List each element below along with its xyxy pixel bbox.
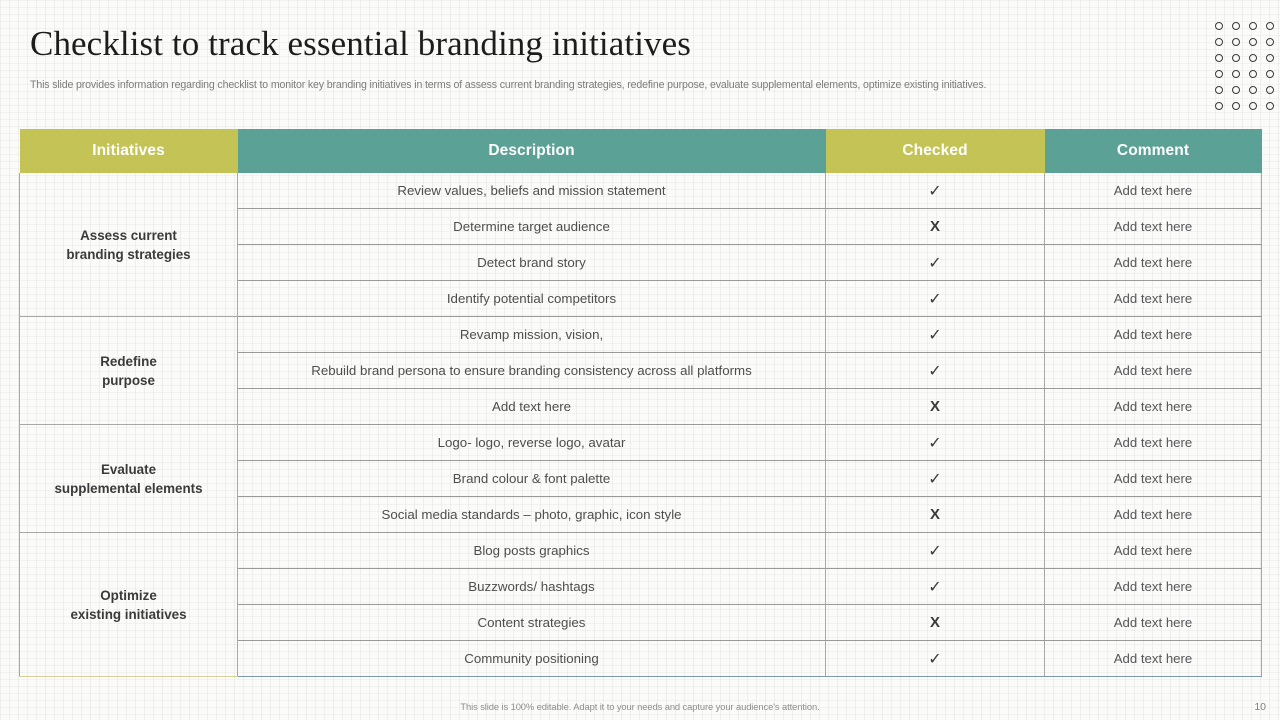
- decor-dot: [1266, 22, 1274, 30]
- column-header-initiatives: Initiatives: [20, 129, 238, 173]
- checkmark-icon[interactable]: ✓: [826, 641, 1045, 677]
- comment-cell[interactable]: Add text here: [1045, 245, 1262, 281]
- description-cell: Revamp mission, vision,: [238, 317, 826, 353]
- description-cell: Detect brand story: [238, 245, 826, 281]
- table-row: RedefinepurposeRevamp mission, vision,✓A…: [20, 317, 1262, 353]
- comment-cell[interactable]: Add text here: [1045, 173, 1262, 209]
- description-cell: Content strategies: [238, 605, 826, 641]
- decor-dot: [1249, 86, 1257, 94]
- column-header-description: Description: [238, 129, 826, 173]
- checkmark-icon[interactable]: ✓: [826, 461, 1045, 497]
- checkmark-icon[interactable]: ✓: [826, 425, 1045, 461]
- table-body: Assess currentbranding strategiesReview …: [20, 173, 1262, 677]
- table-row: Optimizeexisting initiativesBlog posts g…: [20, 533, 1262, 569]
- decor-dot: [1232, 70, 1240, 78]
- initiative-label-line2: existing initiatives: [20, 605, 237, 624]
- initiative-group-cell: Assess currentbranding strategies: [20, 173, 238, 317]
- checked-state-glyph: ✓: [928, 327, 941, 344]
- initiative-label-line1: Assess current: [20, 226, 237, 245]
- comment-cell[interactable]: Add text here: [1045, 533, 1262, 569]
- decor-dot: [1215, 38, 1223, 46]
- footer-note: This slide is 100% editable. Adapt it to…: [0, 701, 1280, 712]
- description-cell: Add text here: [238, 389, 826, 425]
- comment-cell[interactable]: Add text here: [1045, 317, 1262, 353]
- decor-dot: [1215, 86, 1223, 94]
- decor-dot: [1249, 22, 1257, 30]
- comment-cell[interactable]: Add text here: [1045, 281, 1262, 317]
- description-cell: Logo- logo, reverse logo, avatar: [238, 425, 826, 461]
- slide-canvas: Checklist to track essential branding in…: [0, 0, 1280, 720]
- comment-cell[interactable]: Add text here: [1045, 425, 1262, 461]
- decor-dot: [1232, 54, 1240, 62]
- initiative-group-cell: Optimizeexisting initiatives: [20, 533, 238, 677]
- decor-dot: [1266, 102, 1274, 110]
- checked-state-glyph: ✓: [928, 543, 941, 560]
- checked-state-glyph: ✓: [928, 579, 941, 596]
- decor-dot: [1232, 102, 1240, 110]
- checkmark-icon[interactable]: ✓: [826, 569, 1045, 605]
- description-cell: Community positioning: [238, 641, 826, 677]
- page-subtitle: This slide provides information regardin…: [30, 79, 986, 91]
- table-header-row: Initiatives Description Checked Comment: [20, 129, 1262, 173]
- cross-icon[interactable]: X: [826, 497, 1045, 533]
- description-cell: Buzzwords/ hashtags: [238, 569, 826, 605]
- description-cell: Review values, beliefs and mission state…: [238, 173, 826, 209]
- checked-state-glyph: ✓: [928, 651, 941, 668]
- page-title: Checklist to track essential branding in…: [30, 24, 691, 64]
- decor-dot: [1215, 54, 1223, 62]
- description-cell: Brand colour & font palette: [238, 461, 826, 497]
- comment-cell[interactable]: Add text here: [1045, 461, 1262, 497]
- decor-dot: [1249, 38, 1257, 46]
- comment-cell[interactable]: Add text here: [1045, 569, 1262, 605]
- decor-dot: [1215, 102, 1223, 110]
- checked-state-glyph: X: [930, 398, 940, 415]
- cross-icon[interactable]: X: [826, 605, 1045, 641]
- comment-cell[interactable]: Add text here: [1045, 389, 1262, 425]
- decor-dot: [1249, 70, 1257, 78]
- checkmark-icon[interactable]: ✓: [826, 245, 1045, 281]
- page-number: 10: [1254, 701, 1266, 713]
- table-row: Evaluatesupplemental elementsLogo- logo,…: [20, 425, 1262, 461]
- initiative-group-cell: Redefinepurpose: [20, 317, 238, 425]
- description-cell: Determine target audience: [238, 209, 826, 245]
- decor-dot: [1249, 54, 1257, 62]
- checkmark-icon[interactable]: ✓: [826, 317, 1045, 353]
- decor-dot: [1232, 38, 1240, 46]
- initiative-label-line2: purpose: [20, 371, 237, 390]
- checked-state-glyph: ✓: [928, 471, 941, 488]
- initiative-label-line2: branding strategies: [20, 245, 237, 264]
- initiative-label-line1: Redefine: [20, 352, 237, 371]
- checked-state-glyph: ✓: [928, 435, 941, 452]
- comment-cell[interactable]: Add text here: [1045, 497, 1262, 533]
- checkmark-icon[interactable]: ✓: [826, 353, 1045, 389]
- description-cell: Social media standards – photo, graphic,…: [238, 497, 826, 533]
- description-cell: Blog posts graphics: [238, 533, 826, 569]
- initiative-label-line1: Optimize: [20, 586, 237, 605]
- cross-icon[interactable]: X: [826, 389, 1045, 425]
- description-cell: Rebuild brand persona to ensure branding…: [238, 353, 826, 389]
- cross-icon[interactable]: X: [826, 209, 1045, 245]
- decor-dot: [1266, 38, 1274, 46]
- decor-dot: [1266, 54, 1274, 62]
- checked-state-glyph: X: [930, 614, 940, 631]
- table-row: Assess currentbranding strategiesReview …: [20, 173, 1262, 209]
- checkmark-icon[interactable]: ✓: [826, 281, 1045, 317]
- decor-dot: [1215, 70, 1223, 78]
- checkmark-icon[interactable]: ✓: [826, 173, 1045, 209]
- decor-dot: [1232, 22, 1240, 30]
- checked-state-glyph: ✓: [928, 291, 941, 308]
- initiative-group-cell: Evaluatesupplemental elements: [20, 425, 238, 533]
- checkmark-icon[interactable]: ✓: [826, 533, 1045, 569]
- comment-cell[interactable]: Add text here: [1045, 353, 1262, 389]
- checked-state-glyph: X: [930, 506, 940, 523]
- decor-dot: [1249, 102, 1257, 110]
- description-cell: Identify potential competitors: [238, 281, 826, 317]
- decor-dot: [1266, 70, 1274, 78]
- decor-dot: [1215, 22, 1223, 30]
- checked-state-glyph: ✓: [928, 363, 941, 380]
- checked-state-glyph: X: [930, 218, 940, 235]
- checklist-table: Initiatives Description Checked Comment …: [19, 129, 1262, 677]
- decorative-dot-grid: [1210, 18, 1278, 114]
- decor-dot: [1232, 86, 1240, 94]
- decor-dot: [1266, 86, 1274, 94]
- initiative-label-line2: supplemental elements: [20, 479, 237, 498]
- column-header-checked: Checked: [826, 129, 1045, 173]
- comment-cell[interactable]: Add text here: [1045, 209, 1262, 245]
- checked-state-glyph: ✓: [928, 183, 941, 200]
- comment-cell[interactable]: Add text here: [1045, 641, 1262, 677]
- column-header-comment: Comment: [1045, 129, 1262, 173]
- checked-state-glyph: ✓: [928, 255, 941, 272]
- comment-cell[interactable]: Add text here: [1045, 605, 1262, 641]
- initiative-label-line1: Evaluate: [20, 460, 237, 479]
